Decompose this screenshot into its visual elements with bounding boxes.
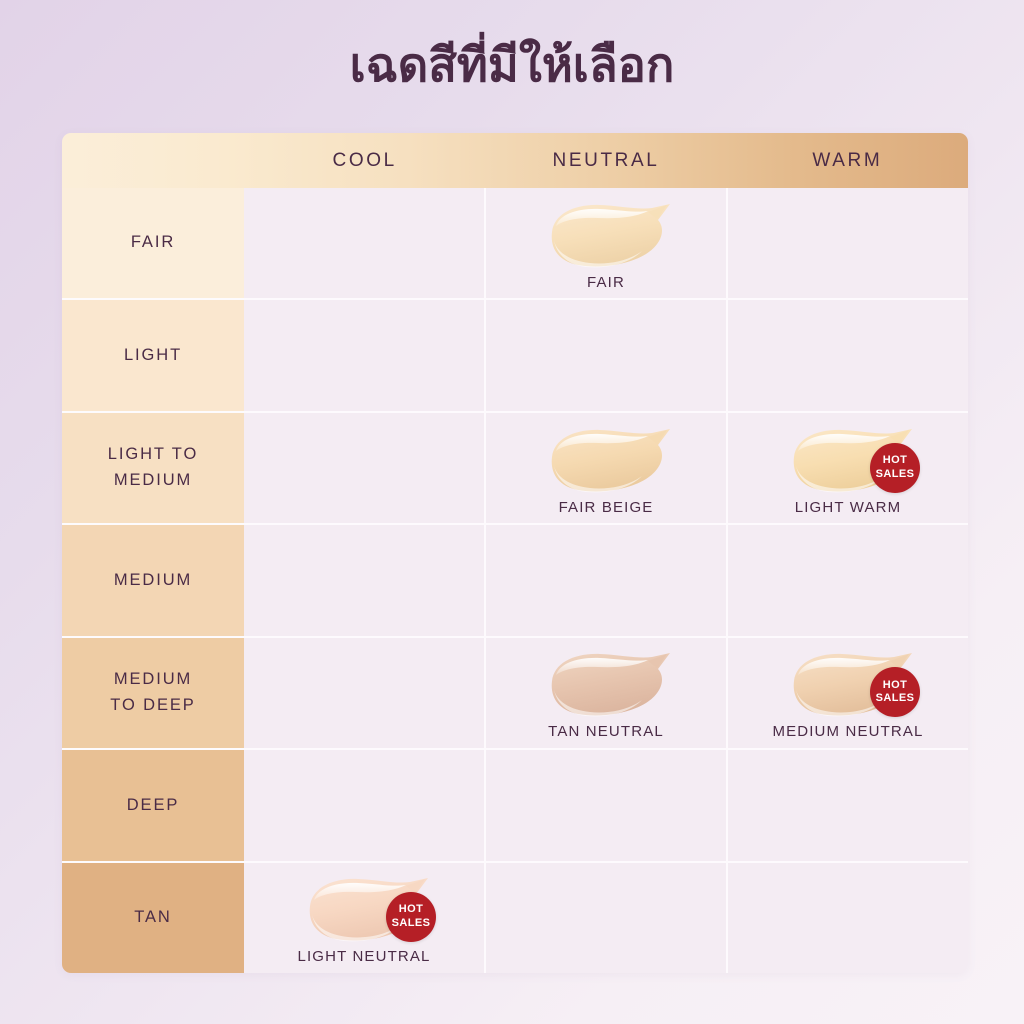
empty-cell bbox=[244, 525, 486, 635]
table-row bbox=[244, 300, 968, 412]
hot-sales-badge-line2: SALES bbox=[876, 468, 915, 482]
row-label-tan: TAN bbox=[62, 863, 244, 973]
empty-cell bbox=[244, 750, 486, 860]
empty-cell bbox=[486, 863, 728, 973]
row-label-medium-to-deep: MEDIUMTO DEEP bbox=[62, 638, 244, 750]
swatch-label-fair-beige: FAIR BEIGE bbox=[559, 499, 654, 516]
empty-cell bbox=[486, 750, 728, 860]
hot-sales-badge-line2: SALES bbox=[876, 692, 915, 706]
hot-sales-badge-line1: HOT bbox=[883, 679, 907, 693]
empty-cell bbox=[244, 413, 486, 523]
swatch-label-light-neutral: LIGHT NEUTRAL bbox=[297, 948, 430, 965]
hot-sales-badge-line1: HOT bbox=[399, 903, 423, 917]
row-label-deep: DEEP bbox=[62, 750, 244, 862]
column-header-warm: WARM bbox=[727, 133, 968, 188]
table-header-corner bbox=[62, 133, 244, 188]
hot-sales-badge: HOTSALES bbox=[870, 443, 920, 493]
swatch-light-neutral[interactable]: HOTSALES bbox=[288, 870, 440, 948]
empty-cell bbox=[728, 525, 968, 635]
table-header-row: COOL NEUTRAL WARM bbox=[62, 133, 968, 188]
swatch-label-light-warm: LIGHT WARM bbox=[795, 499, 902, 516]
swatch-medium-neutral[interactable]: HOTSALES bbox=[772, 645, 924, 723]
swatch-label-fair: FAIR bbox=[587, 274, 625, 291]
swatch-cell-light-warm[interactable]: HOTSALESLIGHT WARM bbox=[728, 413, 968, 523]
empty-cell bbox=[486, 300, 728, 410]
hot-sales-badge-line2: SALES bbox=[392, 917, 431, 931]
table-row bbox=[244, 750, 968, 862]
swatch-label-tan-neutral: TAN NEUTRAL bbox=[548, 723, 664, 740]
table-row: FAIR bbox=[244, 188, 968, 300]
swatch-tan-neutral[interactable] bbox=[530, 645, 682, 723]
row-label-column: FAIRLIGHTLIGHT TOMEDIUMMEDIUMMEDIUMTO DE… bbox=[62, 188, 244, 973]
empty-cell bbox=[728, 300, 968, 410]
row-label-light: LIGHT bbox=[62, 300, 244, 412]
hot-sales-badge: HOTSALES bbox=[386, 892, 436, 942]
table-row: TAN NEUTRAL HOTSALESMEDIUM NEUTRAL bbox=[244, 638, 968, 750]
empty-cell bbox=[244, 638, 486, 748]
shade-chart-table: COOL NEUTRAL WARM FAIRLIGHTLIGHT TOMEDIU… bbox=[62, 133, 968, 973]
page-title: เฉดสีที่มีให้เลือก bbox=[0, 38, 1024, 92]
swatch-cell-medium-neutral[interactable]: HOTSALESMEDIUM NEUTRAL bbox=[728, 638, 968, 748]
table-row: FAIR BEIGE HOTSALESLIGHT WARM bbox=[244, 413, 968, 525]
row-label-medium: MEDIUM bbox=[62, 525, 244, 637]
table-body: FAIRLIGHTLIGHT TOMEDIUMMEDIUMMEDIUMTO DE… bbox=[62, 188, 968, 973]
empty-cell bbox=[486, 525, 728, 635]
hot-sales-badge-line1: HOT bbox=[883, 454, 907, 468]
swatch-cell-tan-neutral[interactable]: TAN NEUTRAL bbox=[486, 638, 728, 748]
empty-cell bbox=[728, 863, 968, 973]
swatch-grid: FAIR FAIR BEIGE bbox=[244, 188, 968, 973]
swatch-cell-fair[interactable]: FAIR bbox=[486, 188, 728, 298]
empty-cell bbox=[728, 188, 968, 298]
empty-cell bbox=[244, 188, 486, 298]
empty-cell bbox=[244, 300, 486, 410]
table-row: HOTSALESLIGHT NEUTRAL bbox=[244, 863, 968, 973]
swatch-fair[interactable] bbox=[530, 196, 682, 274]
row-label-fair: FAIR bbox=[62, 188, 244, 300]
empty-cell bbox=[728, 750, 968, 860]
swatch-cell-fair-beige[interactable]: FAIR BEIGE bbox=[486, 413, 728, 523]
swatch-cell-light-neutral[interactable]: HOTSALESLIGHT NEUTRAL bbox=[244, 863, 486, 973]
table-row bbox=[244, 525, 968, 637]
column-header-cool: COOL bbox=[244, 133, 485, 188]
swatch-fair-beige[interactable] bbox=[530, 421, 682, 499]
row-label-light-to-medium: LIGHT TOMEDIUM bbox=[62, 413, 244, 525]
swatch-label-medium-neutral: MEDIUM NEUTRAL bbox=[772, 723, 923, 740]
column-header-neutral: NEUTRAL bbox=[485, 133, 726, 188]
swatch-light-warm[interactable]: HOTSALES bbox=[772, 421, 924, 499]
